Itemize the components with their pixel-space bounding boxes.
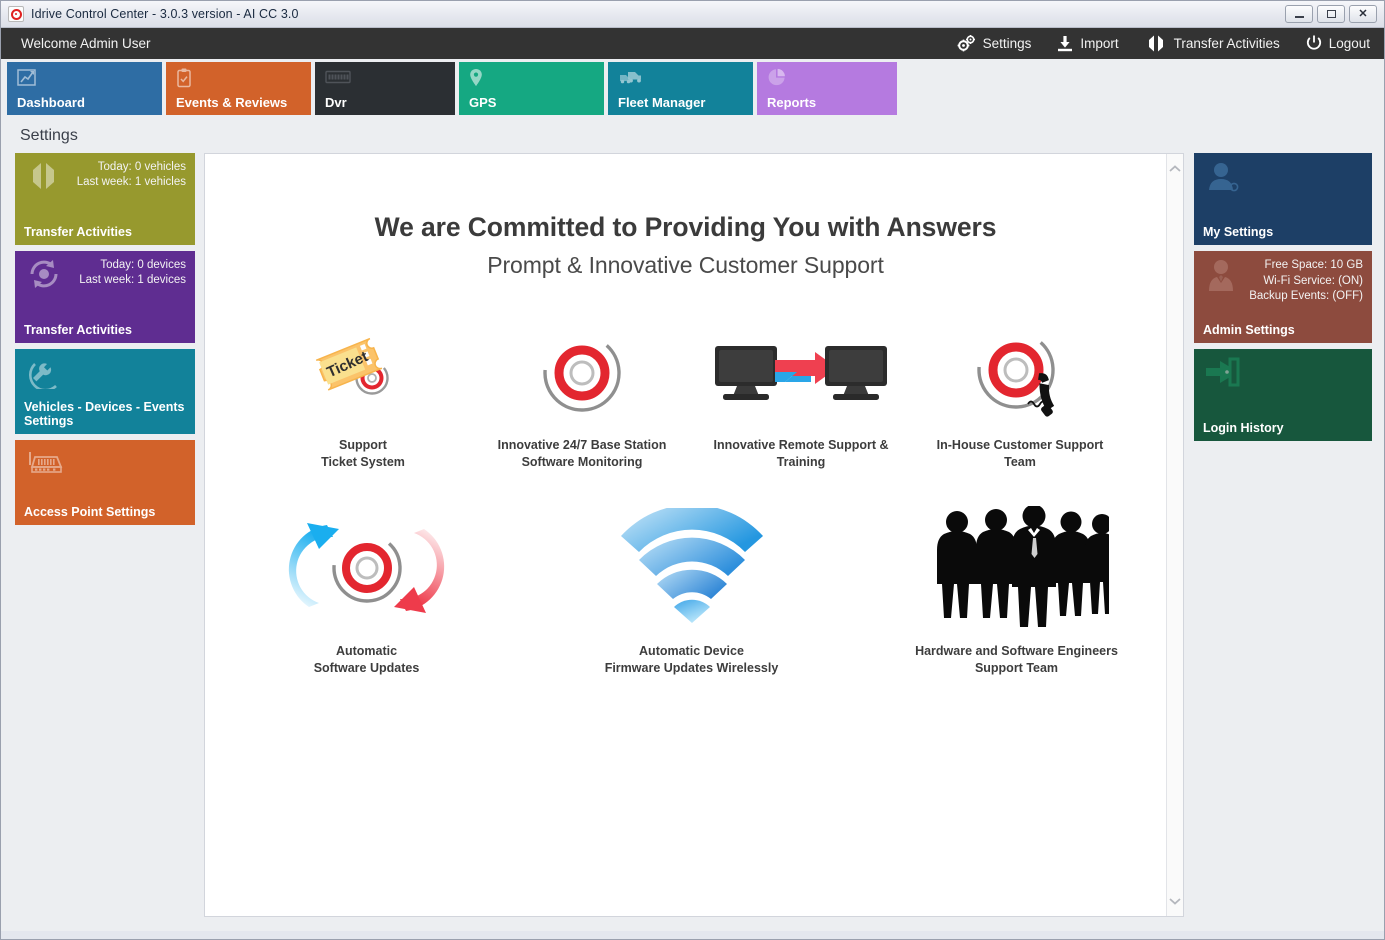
caption-line: Innovative 24/7 Base Station	[498, 437, 667, 454]
feature-caption: Automatic Device Firmware Updates Wirele…	[605, 643, 779, 677]
left-sidebar: Today: 0 vehicles Last week: 1 vehicles …	[15, 153, 195, 917]
caption-line: In-House Customer Support	[937, 437, 1104, 454]
transfer-activities-button[interactable]: Transfer Activities	[1145, 35, 1280, 52]
feature-firmware-updates-wireless[interactable]: Automatic Device Firmware Updates Wirele…	[584, 503, 799, 677]
page-header: Settings	[1, 118, 1384, 153]
tile-title: Access Point Settings	[24, 505, 163, 519]
caption-line: Automatic Device	[605, 643, 779, 660]
feature-remote-support[interactable]: Innovative Remote Support & Training	[709, 321, 894, 471]
hero-title: We are Committed to Providing You with A…	[205, 212, 1166, 243]
feature-caption: In-House Customer Support Team	[937, 437, 1104, 471]
window-controls: ✕	[1285, 5, 1380, 23]
tab-reports-label: Reports	[767, 95, 816, 110]
tile-stat-line: Last week: 1 vehicles	[24, 175, 186, 190]
target-phone-icon	[970, 321, 1070, 425]
caption-line: Software Monitoring	[498, 454, 667, 471]
tile-title: Transfer Activities	[24, 225, 140, 239]
pie-chart-icon	[767, 68, 787, 93]
dvr-device-icon	[325, 68, 351, 91]
tile-stat-line: Today: 0 vehicles	[24, 160, 186, 175]
clipboard-check-icon	[176, 68, 192, 93]
sidebar-tile-access-point-settings[interactable]: Access Point Settings	[15, 440, 195, 525]
tab-gps-label: GPS	[469, 95, 496, 110]
caption-line: Innovative Remote Support &	[713, 437, 888, 454]
gears-icon	[957, 35, 976, 52]
sidebar-tile-login-history[interactable]: Login History	[1194, 349, 1372, 441]
feature-base-station-monitoring[interactable]: Innovative 24/7 Base Station Software Mo…	[490, 321, 675, 471]
map-pin-icon	[469, 68, 483, 93]
logout-label: Logout	[1329, 36, 1370, 51]
tile-title: Vehicles - Devices - Events Settings	[24, 400, 195, 428]
scroll-up-icon[interactable]	[1169, 161, 1181, 177]
tile-stat-line: Wi-Fi Service: (ON)	[1203, 274, 1363, 290]
tile-stats: Today: 0 devices Last week: 1 devices	[24, 258, 186, 288]
scroll-down-icon[interactable]	[1169, 893, 1181, 909]
maximize-button[interactable]	[1317, 5, 1345, 23]
tab-events-reviews[interactable]: Events & Reviews	[166, 62, 311, 115]
import-label: Import	[1080, 36, 1118, 51]
body-area: Today: 0 vehicles Last week: 1 vehicles …	[1, 153, 1384, 931]
tile-title: Admin Settings	[1203, 323, 1303, 337]
sidebar-tile-transfer-vehicles[interactable]: Today: 0 vehicles Last week: 1 vehicles …	[15, 153, 195, 245]
two-monitors-icon	[711, 321, 891, 425]
caption-line: Software Updates	[314, 660, 420, 677]
caption-line: Hardware and Software Engineers	[915, 643, 1118, 660]
feature-automatic-software-updates[interactable]: Automatic Software Updates	[259, 503, 474, 677]
tab-strip: Dashboard Events & Reviews	[7, 62, 1384, 115]
tab-reports[interactable]: Reports	[757, 62, 897, 115]
caption-line: Training	[713, 454, 888, 471]
vertical-scrollbar[interactable]	[1166, 154, 1183, 916]
tile-title: Transfer Activities	[24, 323, 140, 337]
sidebar-tile-my-settings[interactable]: My Settings	[1194, 153, 1372, 245]
window-title: Idrive Control Center - 3.0.3 version - …	[31, 7, 299, 21]
target-rings-icon	[536, 321, 628, 425]
settings-label: Settings	[983, 36, 1032, 51]
title-bar: Idrive Control Center - 3.0.3 version - …	[1, 1, 1384, 28]
welcome-message: Welcome Admin User	[21, 36, 151, 51]
vehicles-icon	[618, 68, 644, 91]
feature-caption: Innovative Remote Support & Training	[713, 437, 888, 471]
wifi-icon	[617, 503, 767, 631]
tile-title: My Settings	[1203, 225, 1281, 239]
router-icon	[27, 448, 67, 485]
transfer-activities-label: Transfer Activities	[1174, 36, 1280, 51]
caption-line: Support	[321, 437, 405, 454]
caption-line: Ticket System	[321, 454, 405, 471]
tab-dashboard[interactable]: Dashboard	[7, 62, 162, 115]
feature-caption: Hardware and Software Engineers Support …	[915, 643, 1118, 677]
feature-engineers-support-team[interactable]: Hardware and Software Engineers Support …	[909, 503, 1124, 677]
ticket-target-icon: Ticket	[308, 321, 418, 425]
transfer-arrows-icon	[1145, 35, 1167, 52]
tab-fleet-manager-label: Fleet Manager	[618, 95, 705, 110]
sidebar-tile-admin-settings[interactable]: Free Space: 10 GB Wi-Fi Service: (ON) Ba…	[1194, 251, 1372, 343]
tile-stat-line: Backup Events: (OFF)	[1203, 289, 1363, 305]
caption-line: Support Team	[915, 660, 1118, 677]
minimize-button[interactable]	[1285, 5, 1313, 23]
caption-line: Team	[937, 454, 1104, 471]
download-icon	[1057, 35, 1073, 52]
feature-row-2: Automatic Software Updates	[205, 503, 1166, 677]
close-button[interactable]: ✕	[1349, 5, 1377, 23]
tab-dvr[interactable]: Dvr	[315, 62, 455, 115]
sidebar-tile-vehicles-devices-events-settings[interactable]: Vehicles - Devices - Events Settings	[15, 349, 195, 434]
main-panel: We are Committed to Providing You with A…	[204, 153, 1184, 917]
user-icon	[1206, 161, 1240, 200]
tab-dashboard-label: Dashboard	[17, 95, 85, 110]
application-window: Idrive Control Center - 3.0.3 version - …	[0, 0, 1385, 940]
caption-line: Firmware Updates Wirelessly	[605, 660, 779, 677]
wrench-icon	[27, 357, 61, 394]
refresh-target-icon	[279, 503, 454, 631]
feature-in-house-support[interactable]: In-House Customer Support Team	[928, 321, 1113, 471]
caption-line: Automatic	[314, 643, 420, 660]
power-icon	[1306, 35, 1322, 52]
page-title: Settings	[20, 127, 78, 145]
top-bar-actions: Settings Import	[957, 35, 1370, 52]
feature-caption: Automatic Software Updates	[314, 643, 420, 677]
status-bar	[1, 931, 1384, 939]
tab-dvr-label: Dvr	[325, 95, 347, 110]
logout-button[interactable]: Logout	[1306, 35, 1370, 52]
tile-stats: Today: 0 vehicles Last week: 1 vehicles	[24, 160, 186, 190]
chart-arrow-icon	[17, 68, 39, 93]
settings-button[interactable]: Settings	[957, 35, 1032, 52]
tile-stats: Free Space: 10 GB Wi-Fi Service: (ON) Ba…	[1203, 258, 1363, 305]
right-sidebar: My Settings Free Space: 10 GB Wi-Fi Serv…	[1194, 153, 1372, 917]
feature-row-1: Ticket Support Ticket System	[205, 321, 1166, 471]
tab-gps[interactable]: GPS	[459, 62, 604, 115]
sidebar-tile-transfer-devices[interactable]: Today: 0 devices Last week: 1 devices Tr…	[15, 251, 195, 343]
app-icon	[8, 6, 24, 22]
feature-caption: Innovative 24/7 Base Station Software Mo…	[498, 437, 667, 471]
top-bar: Welcome Admin User	[1, 28, 1384, 59]
people-group-icon	[924, 503, 1109, 631]
feature-support-ticket-system[interactable]: Ticket Support Ticket System	[271, 321, 456, 471]
tile-stat-line: Today: 0 devices	[24, 258, 186, 273]
hero-subtitle: Prompt & Innovative Customer Support	[205, 252, 1166, 279]
tab-fleet-manager[interactable]: Fleet Manager	[608, 62, 753, 115]
tile-stat-line: Last week: 1 devices	[24, 273, 186, 288]
main-content: We are Committed to Providing You with A…	[205, 154, 1166, 916]
feature-caption: Support Ticket System	[321, 437, 405, 471]
tab-events-reviews-label: Events & Reviews	[176, 95, 287, 110]
login-door-icon	[1206, 357, 1240, 392]
tile-title: Login History	[1203, 421, 1292, 435]
import-button[interactable]: Import	[1057, 35, 1118, 52]
tab-strip-container: Dashboard Events & Reviews	[1, 59, 1384, 118]
tile-stat-line: Free Space: 10 GB	[1203, 258, 1363, 274]
